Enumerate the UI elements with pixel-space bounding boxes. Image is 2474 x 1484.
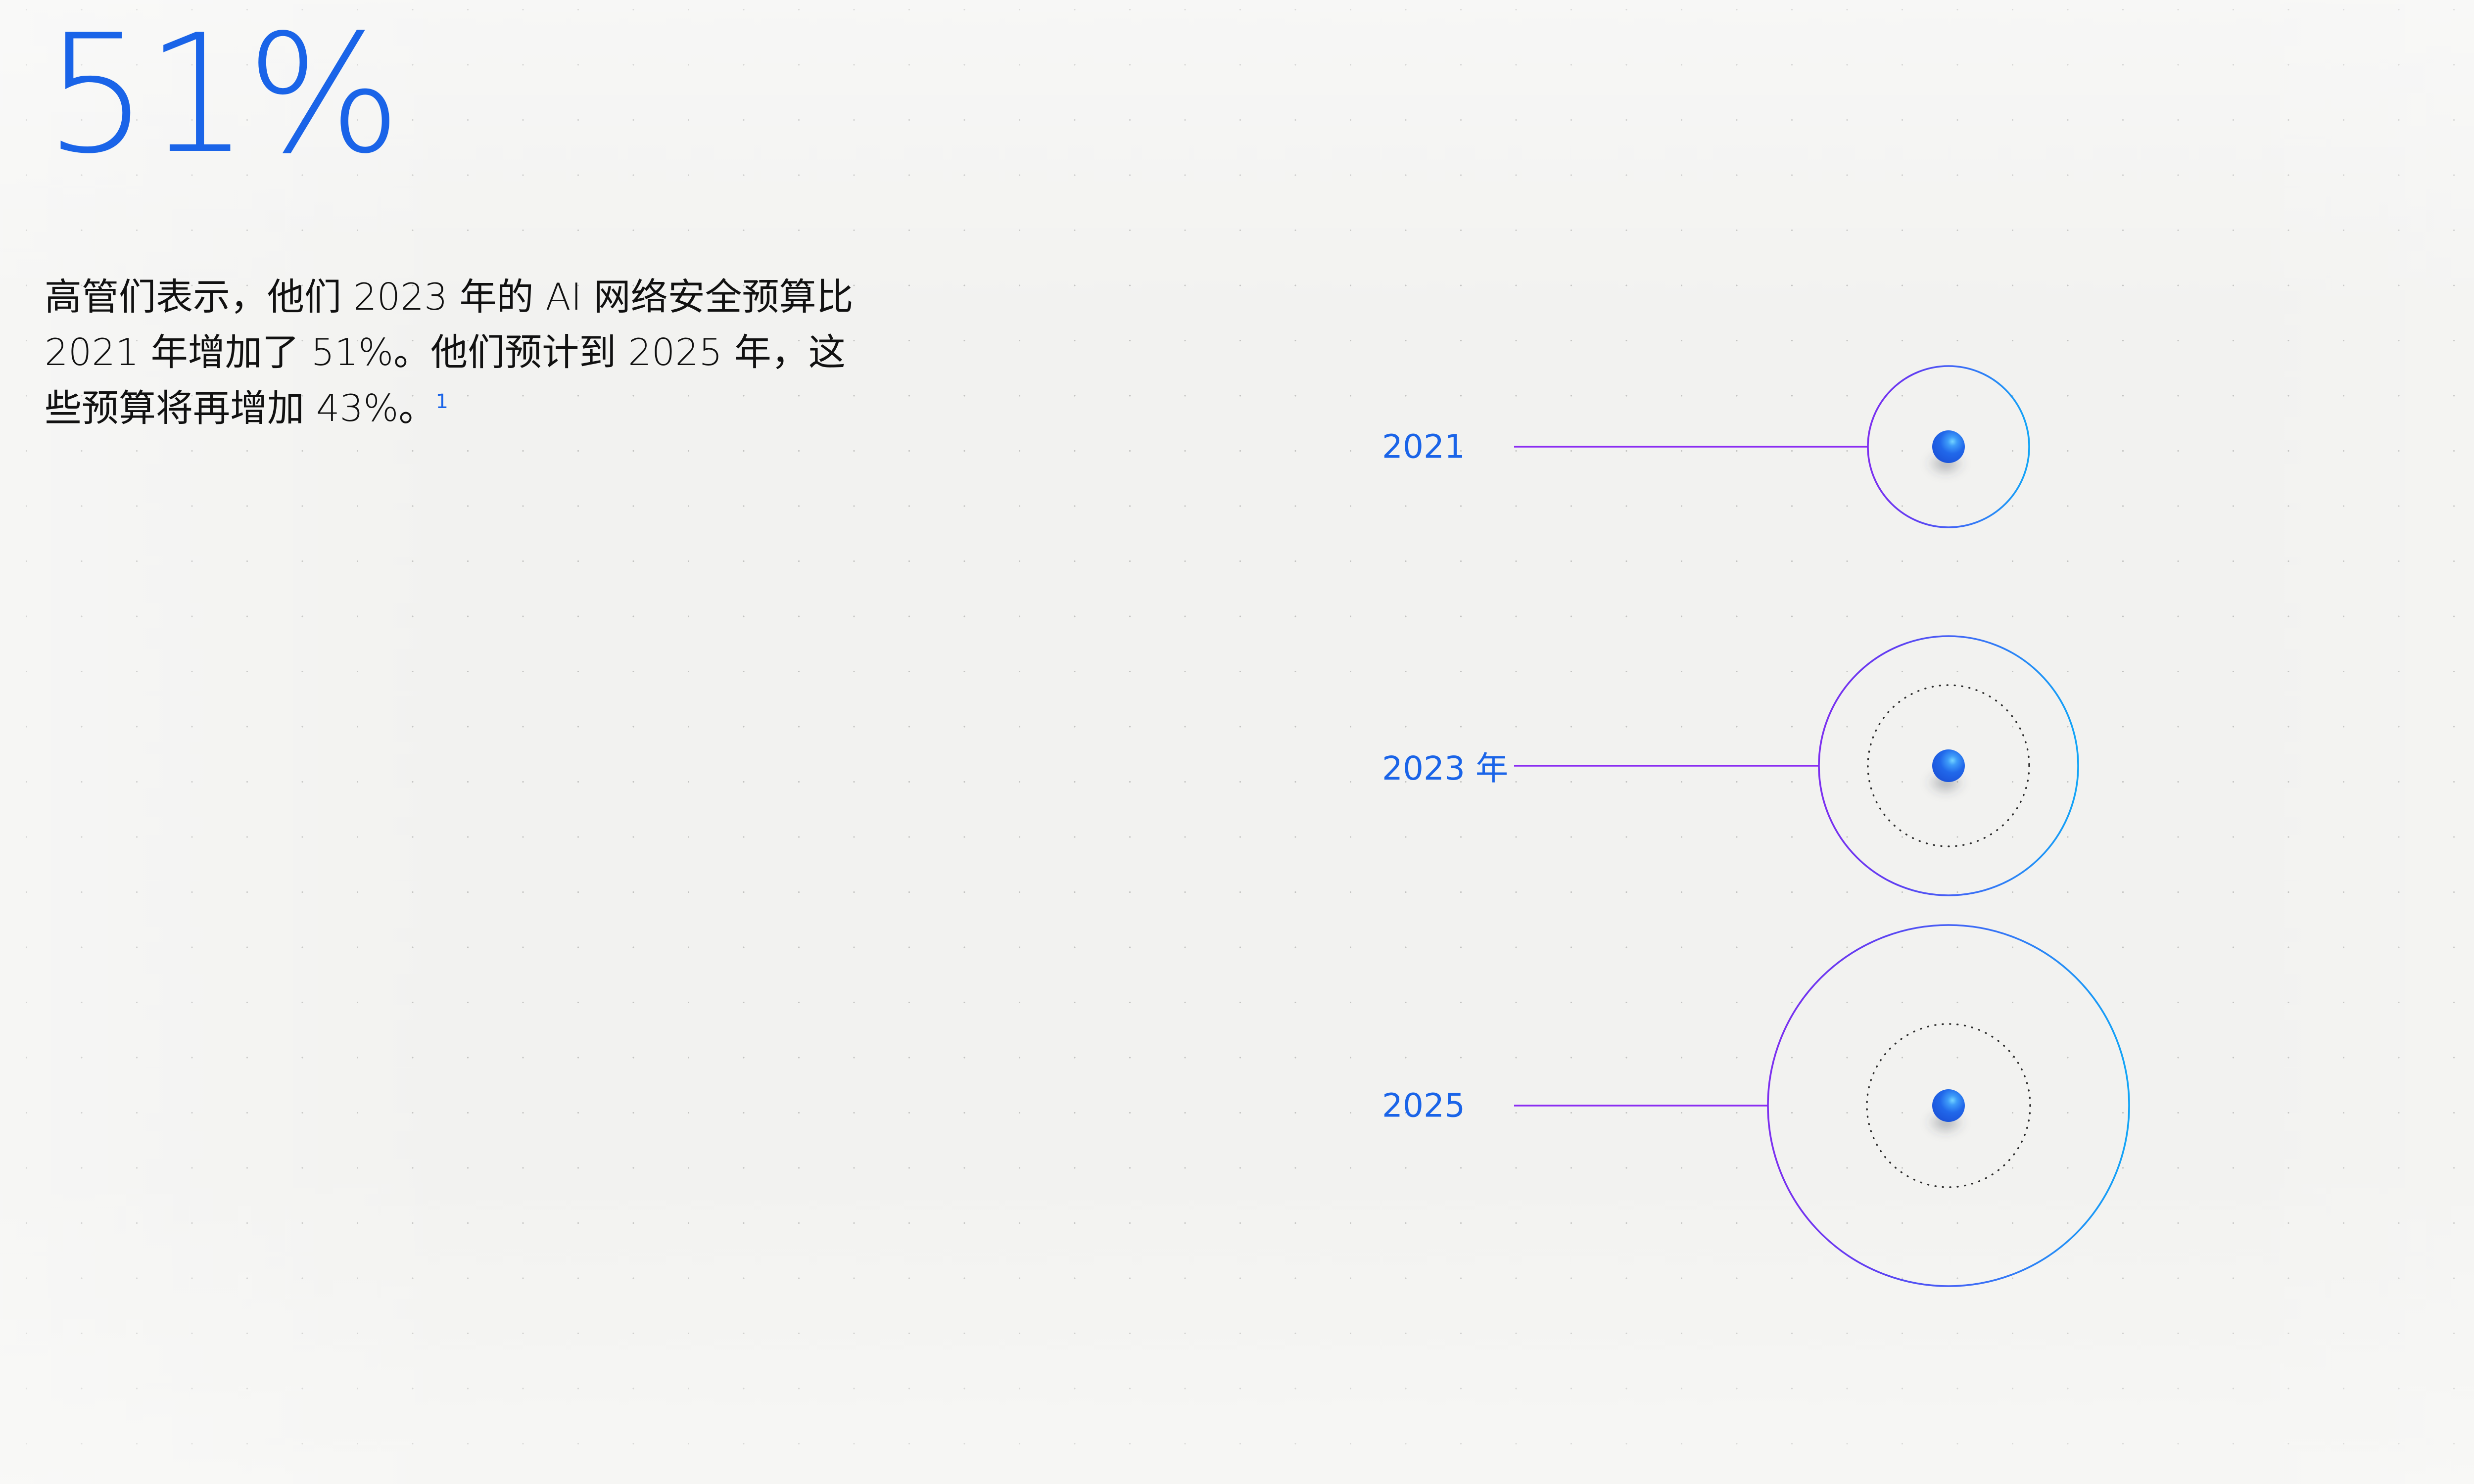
inner-dotted-ring (1868, 685, 2029, 846)
data-point-sphere (1932, 749, 1965, 782)
bubble-group (1514, 366, 2129, 1286)
bubble-label-2: 2025 (1382, 1087, 1465, 1125)
bubble-0 (1514, 366, 2029, 527)
footer-bar: 上一章 下一章 8 (0, 1405, 2474, 1484)
body-paragraph: 高管们表示，他们 2023 年的 AI 网络安全预算比 2021 年增加了 51… (45, 269, 856, 436)
bubble-label-0: 2021 (1382, 428, 1465, 466)
body-text: 高管们表示，他们 2023 年的 AI 网络安全预算比 2021 年增加了 51… (45, 275, 854, 430)
outer-ring (1819, 636, 2078, 895)
sphere-shadow (1926, 770, 1965, 795)
left-content-column: 51% 高管们表示，他们 2023 年的 AI 网络安全预算比 2021 年增加… (45, 20, 896, 436)
bubble-2 (1514, 925, 2129, 1286)
footnote-marker[interactable]: 1 (436, 390, 448, 413)
data-point-sphere (1932, 1089, 1965, 1122)
outer-ring (1868, 366, 2029, 527)
sphere-shadow (1926, 451, 1965, 476)
bubble-label-1: 2023 年 (1382, 742, 1508, 789)
page-title: 51% (45, 20, 896, 170)
inner-dotted-ring (1867, 1024, 2030, 1187)
outer-ring (1768, 925, 2129, 1286)
data-point-sphere (1932, 430, 1965, 463)
sphere-shadow (1926, 1110, 1965, 1135)
bubble-1 (1514, 636, 2078, 895)
slide-canvas: 51% 高管们表示，他们 2023 年的 AI 网络安全预算比 2021 年增加… (0, 0, 2474, 1484)
